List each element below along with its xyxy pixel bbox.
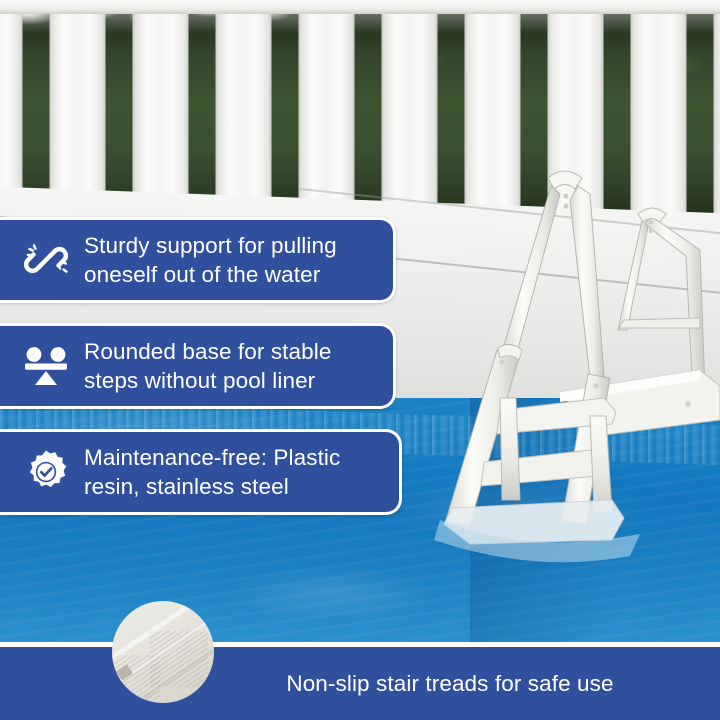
feature-badge-sturdy-support: Sturdy support for pulling oneself out o… [0,217,396,303]
feature-badge-rounded-base: Rounded base for stable steps without po… [0,323,396,409]
feature-line-1: Maintenance-free: Plastic [84,445,340,470]
chain-link-icon [20,234,72,286]
gear-check-icon [20,446,72,498]
balance-scale-icon [20,340,72,392]
feature-badge-maintenance-free: Maintenance-free: Plastic resin, stainle… [0,429,402,515]
feature-line-2: resin, stainless steel [84,474,289,499]
feature-badge-text: Sturdy support for pulling oneself out o… [84,231,337,289]
banner-caption: Non-slip stair treads for safe use [0,647,720,720]
feature-badge-text: Rounded base for stable steps without po… [84,337,331,395]
feature-line-1: Sturdy support for pulling [84,233,337,258]
feature-line-2: steps without pool liner [84,368,315,393]
feature-badge-list: Sturdy support for pulling oneself out o… [0,217,410,515]
feature-line-2: oneself out of the water [84,262,320,287]
feature-line-1: Rounded base for stable [84,339,331,364]
feature-badge-text: Maintenance-free: Plastic resin, stainle… [84,443,340,501]
ladder-base-in-water [434,500,640,562]
product-feature-image: Sturdy support for pulling oneself out o… [0,0,720,720]
